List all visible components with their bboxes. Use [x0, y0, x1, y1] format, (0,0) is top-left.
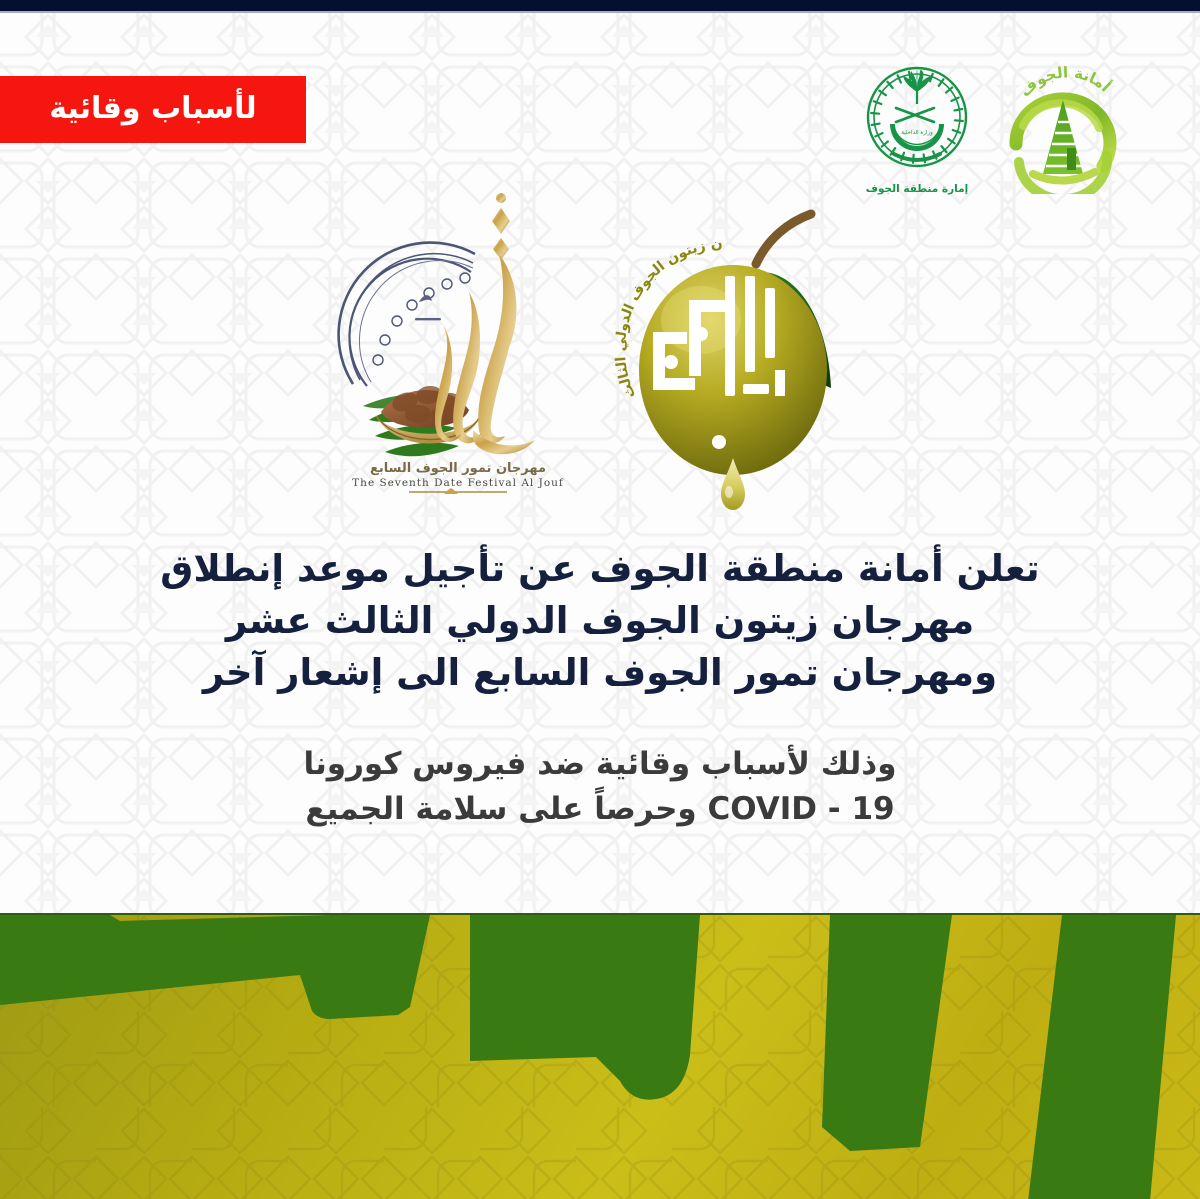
- official-logos-group: أمانة الجوف: [858, 62, 1128, 195]
- date-palm-calligraphy-icon: مهرجان تمور الجوف السابع The Seventh Dat…: [323, 184, 593, 494]
- page-title: تعلن أمانة منطقة الجوف عن تأجيل موعد إنط…: [0, 543, 1200, 698]
- date-festival-arabic-text: مهرجان تمور الجوف السابع: [370, 461, 546, 476]
- olive-fruit-icon: مهرجان زيتون الجوف الدولي الثالث عشر: [593, 180, 883, 510]
- headline-line-1: تعلن أمانة منطقة الجوف عن تأجيل موعد إنط…: [110, 543, 1090, 595]
- page-subtitle: وذلك لأسباب وقائية ضد فيروس كورونا COVID…: [0, 742, 1200, 833]
- emirate-logo-caption: إمارة منطقة الجوف: [866, 183, 968, 195]
- bottom-decorative-band: [0, 913, 1200, 1199]
- festival-logos-group: مهرجان زيتون الجوف الدولي الثالث عشر: [0, 180, 1200, 514]
- subtitle-line-1: وذلك لأسباب وقائية ضد فيروس كورونا: [140, 742, 1060, 787]
- saudi-emirate-emblem-icon: وزارة الداخلية: [858, 62, 976, 180]
- date-festival-logo: مهرجان تمور الجوف السابع The Seventh Dat…: [323, 184, 593, 498]
- headline-line-2: مهرجان زيتون الجوف الدولي الثالث عشر: [110, 595, 1090, 647]
- banner-label: لأسباب وقائية: [49, 94, 256, 126]
- logo-amanat-al-jouf: أمانة الجوف: [998, 62, 1128, 194]
- subtitle-line-2: COVID - 19 وحرصاً على سلامة الجميع: [140, 787, 1060, 832]
- olive-festival-logo: مهرجان زيتون الجوف الدولي الثالث عشر: [593, 180, 883, 514]
- poster-canvas: لأسباب وقائية: [0, 0, 1200, 1199]
- amanat-al-jouf-icon: أمانة الجوف: [998, 62, 1128, 194]
- preventive-reasons-banner: لأسباب وقائية: [0, 76, 306, 143]
- date-festival-english-text: The Seventh Date Festival Al Jouf: [352, 477, 564, 489]
- bottom-band-letterforms: [0, 915, 1200, 1199]
- svg-text:وزارة الداخلية: وزارة الداخلية: [901, 130, 933, 136]
- headline-line-3: ومهرجان تمور الجوف السابع الى إشعار آخر: [110, 647, 1090, 699]
- logo-imarat-al-jouf: وزارة الداخلية إمارة منطقة الجوف: [858, 62, 976, 195]
- top-navy-strip: [0, 0, 1200, 11]
